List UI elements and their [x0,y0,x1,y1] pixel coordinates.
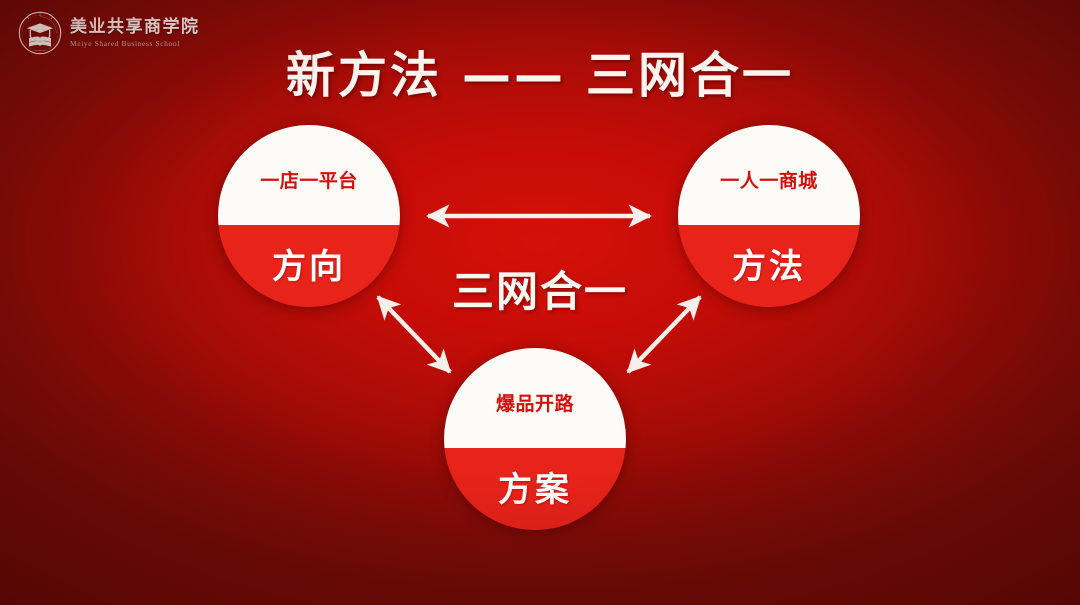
node-plan-bottom: 方案 [444,448,626,530]
node-method-sub-label: 一人一商城 [720,166,818,193]
slide-canvas: 美业共享商学院 Meiye Shared Business School 新方法… [0,0,1080,605]
node-method-top: 一人一商城 [678,125,860,225]
node-plan-top: 爆品开路 [444,348,626,448]
node-plan-main-label: 方案 [498,462,572,511]
node-direction-sub-label: 一店一平台 [260,166,358,193]
node-method-main-label: 方法 [732,239,806,288]
node-method[interactable]: 一人一商城 方法 [678,125,860,307]
node-plan-sub-label: 爆品开路 [496,389,574,416]
node-method-bottom: 方法 [678,225,860,307]
node-direction-top: 一店一平台 [218,125,400,225]
center-label: 三网合一 [0,258,1080,319]
node-direction-main-label: 方向 [272,239,346,288]
brand-name-cn: 美业共享商学院 [70,19,200,36]
node-direction[interactable]: 一店一平台 方向 [218,125,400,307]
slide-title: 新方法 —— 三网合一 [0,36,1080,107]
node-direction-bottom: 方向 [218,225,400,307]
node-plan[interactable]: 爆品开路 方案 [444,348,626,530]
